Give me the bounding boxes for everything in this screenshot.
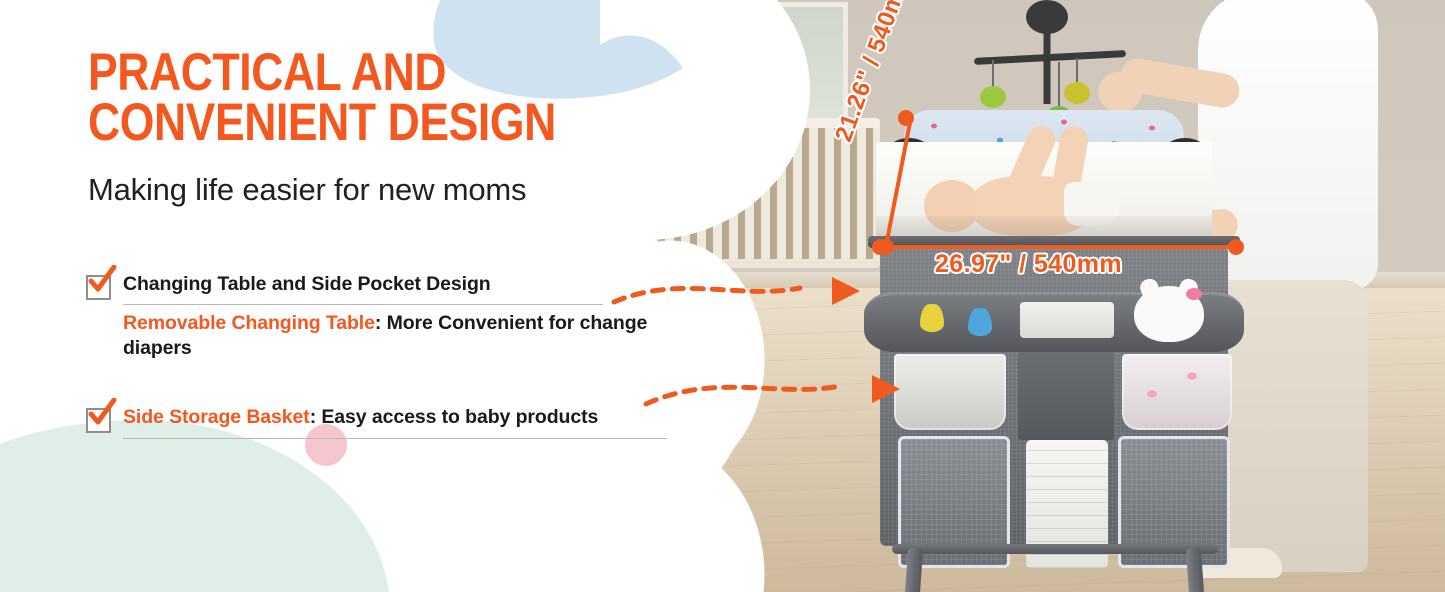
text-column: PRACTICAL AND CONVENIENT DESIGN Making l… <box>0 0 700 592</box>
bottom-rail <box>892 544 1218 554</box>
toy-cone-blue <box>968 308 992 336</box>
feature-highlight-removable-table: Removable Changing Table <box>123 312 375 334</box>
hanging-toy-yellow <box>1064 82 1090 104</box>
dimension-endpoint-top <box>898 110 914 126</box>
side-pocket-center <box>1018 352 1114 440</box>
feature-item-side-storage: Side Storage Basket: Easy access to baby… <box>86 405 666 439</box>
wipes-pack <box>1020 302 1114 338</box>
dimension-endpoint-right <box>1228 239 1244 255</box>
dimension-endpoint-bottom <box>872 239 888 255</box>
room-scene <box>600 0 1445 592</box>
divider-line-2 <box>123 438 667 439</box>
product-feature-banner: 26.97" / 540mm 21.26" / 540mm PRACTICAL … <box>0 0 1445 592</box>
dimension-line-horizontal <box>884 245 1236 249</box>
checkbox-checked-icon <box>86 408 111 433</box>
check-icon <box>87 398 117 428</box>
toy-cone-yellow <box>920 304 944 332</box>
page-title: PRACTICAL AND CONVENIENT DESIGN <box>88 48 556 148</box>
product-photo <box>600 0 1445 592</box>
feature-highlight-side-basket: Side Storage Basket <box>123 406 310 428</box>
feature-list: Changing Table and Side Pocket Design Re… <box>86 272 666 461</box>
check-icon <box>87 265 117 295</box>
dimension-label-width: 26.97" / 540mm <box>935 250 1122 279</box>
page-subtitle: Making life easier for new moms <box>88 172 526 208</box>
feature-item-changing-table: Changing Table and Side Pocket Design Re… <box>86 272 666 361</box>
side-pocket-right <box>1122 354 1232 430</box>
checkbox-checked-icon <box>86 275 111 300</box>
side-pocket-left <box>894 354 1006 430</box>
divider-line-1 <box>123 304 603 305</box>
playard-changing-table <box>868 96 1240 566</box>
feature-desc-side-basket: : Easy access to baby products <box>310 406 599 428</box>
kitty-plush-toy <box>1134 286 1204 342</box>
hanging-toy-green <box>980 86 1006 108</box>
feature-title-changing-table: Changing Table and Side Pocket Design <box>123 272 491 297</box>
